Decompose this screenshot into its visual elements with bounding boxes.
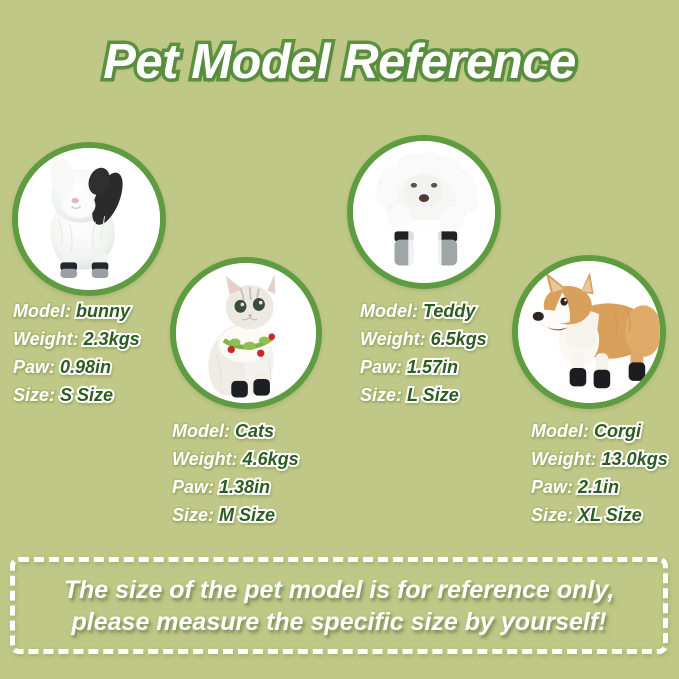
pet-spec-bunny: Model:bunny Weight:2.3kgs Paw:0.98in Siz… <box>13 298 140 410</box>
spec-value-model: bunny <box>76 301 130 321</box>
spec-value-model: Corgi <box>594 421 641 441</box>
spec-row-size: Size:L Size <box>360 382 487 410</box>
spec-row-weight: Weight:2.3kgs <box>13 326 140 354</box>
spec-value-weight: 2.3kgs <box>84 329 140 349</box>
spec-value-size: M Size <box>219 505 275 525</box>
spec-row-weight: Weight:6.5kgs <box>360 326 487 354</box>
spec-label-size: Size: <box>172 505 214 525</box>
spec-row-paw: Paw:0.98in <box>13 354 140 382</box>
pet-photo-cat <box>170 257 322 409</box>
spec-label-paw: Paw: <box>13 357 55 377</box>
spec-row-paw: Paw:2.1in <box>531 474 668 502</box>
spec-label-weight: Weight: <box>360 329 426 349</box>
spec-value-weight: 13.0kgs <box>602 449 668 469</box>
spec-value-paw: 0.98in <box>60 357 111 377</box>
spec-row-size: Size:S Size <box>13 382 140 410</box>
spec-row-model: Model:Corgi <box>531 418 668 446</box>
spec-label-model: Model: <box>13 301 71 321</box>
poster-canvas: Pet Model Reference <box>0 0 679 679</box>
disclaimer-line-1: The size of the pet model is for referen… <box>64 574 615 606</box>
spec-label-model: Model: <box>531 421 589 441</box>
spec-label-weight: Weight: <box>13 329 79 349</box>
disclaimer-text: The size of the pet model is for referen… <box>64 574 615 638</box>
spec-row-model: Model:bunny <box>13 298 140 326</box>
pet-photo-bunny <box>12 142 166 296</box>
spec-label-weight: Weight: <box>531 449 597 469</box>
spec-label-weight: Weight: <box>172 449 238 469</box>
pet-spec-cat: Model:Cats Weight:4.6kgs Paw:1.38in Size… <box>172 418 299 530</box>
spec-row-weight: Weight:4.6kgs <box>172 446 299 474</box>
spec-value-model: Teddy <box>423 301 475 321</box>
spec-value-weight: 4.6kgs <box>243 449 299 469</box>
spec-row-model: Model:Cats <box>172 418 299 446</box>
pet-spec-corgi: Model:Corgi Weight:13.0kgs Paw:2.1in Siz… <box>531 418 668 530</box>
spec-value-model: Cats <box>235 421 274 441</box>
pet-spec-teddy: Model:Teddy Weight:6.5kgs Paw:1.57in Siz… <box>360 298 487 410</box>
spec-value-paw: 1.57in <box>407 357 458 377</box>
pet-photo-corgi <box>512 255 666 409</box>
spec-row-paw: Paw:1.57in <box>360 354 487 382</box>
teddy-dog-illustration <box>353 141 495 283</box>
spec-value-size: S Size <box>60 385 113 405</box>
spec-row-model: Model:Teddy <box>360 298 487 326</box>
spec-label-size: Size: <box>13 385 55 405</box>
spec-value-paw: 1.38in <box>219 477 270 497</box>
spec-value-size: L Size <box>407 385 459 405</box>
spec-label-size: Size: <box>531 505 573 525</box>
spec-label-paw: Paw: <box>531 477 573 497</box>
pet-photo-teddy <box>347 135 501 289</box>
spec-row-paw: Paw:1.38in <box>172 474 299 502</box>
spec-value-paw: 2.1in <box>578 477 619 497</box>
spec-label-paw: Paw: <box>172 477 214 497</box>
cat-illustration <box>176 263 316 403</box>
corgi-illustration <box>518 261 660 403</box>
spec-label-model: Model: <box>172 421 230 441</box>
disclaimer-line-2: please measure the specific size by your… <box>64 606 615 638</box>
bunny-illustration <box>18 148 160 290</box>
spec-label-model: Model: <box>360 301 418 321</box>
spec-row-size: Size:M Size <box>172 502 299 530</box>
disclaimer-box: The size of the pet model is for referen… <box>10 557 668 654</box>
spec-label-paw: Paw: <box>360 357 402 377</box>
spec-value-weight: 6.5kgs <box>431 329 487 349</box>
page-title: Pet Model Reference <box>0 34 679 90</box>
spec-label-size: Size: <box>360 385 402 405</box>
spec-row-size: Size:XL Size <box>531 502 668 530</box>
spec-row-weight: Weight:13.0kgs <box>531 446 668 474</box>
spec-value-size: XL Size <box>578 505 642 525</box>
